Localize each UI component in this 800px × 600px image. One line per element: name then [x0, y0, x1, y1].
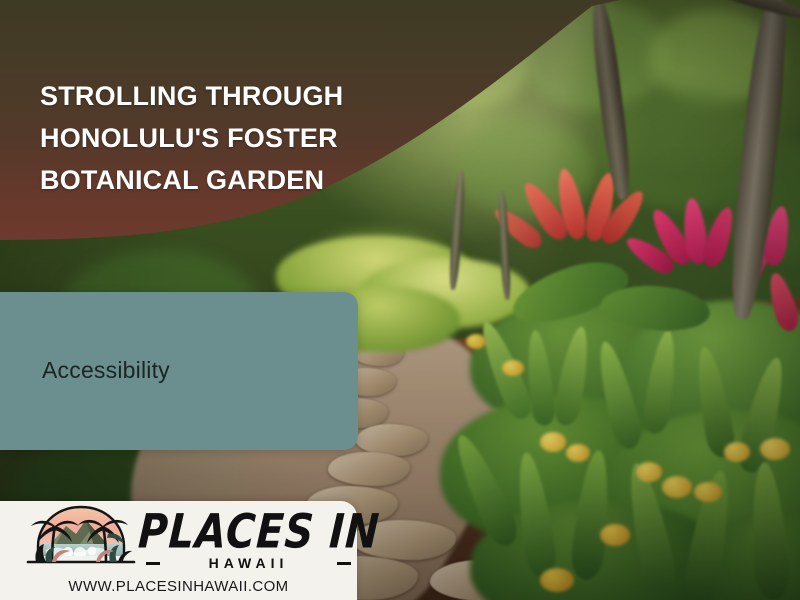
yellow-blossom: [540, 568, 574, 592]
yellow-blossom: [724, 442, 750, 462]
yellow-blossom: [540, 432, 566, 452]
yellow-blossom: [466, 334, 486, 349]
logo-dash-right: [337, 562, 351, 565]
featured-image-graphic: Strolling Through Honolulu's Foster Bota…: [0, 0, 800, 600]
logo-brand-secondary-text: HAWAII: [166, 555, 331, 571]
yellow-blossom: [502, 360, 524, 376]
logo-brand-primary: PLACES IN: [137, 506, 350, 559]
yellow-blossom: [662, 476, 692, 498]
subtitle-label: Accessibility: [42, 357, 170, 384]
yellow-blossom: [600, 524, 630, 546]
logo-brand-secondary: HAWAII: [146, 555, 351, 571]
yellow-blossom: [760, 438, 790, 460]
places-in-hawaii-logo-icon: [22, 504, 140, 570]
logo-website-url: WWW.PLACESINHAWAII.COM: [0, 578, 357, 595]
path-stone: [328, 452, 410, 486]
yellow-blossom: [636, 462, 662, 482]
logo-dash-left: [146, 562, 160, 565]
page-title: Strolling Through Honolulu's Foster Bota…: [40, 75, 380, 201]
yellow-blossom: [694, 482, 722, 502]
yellow-blossom: [566, 444, 590, 462]
